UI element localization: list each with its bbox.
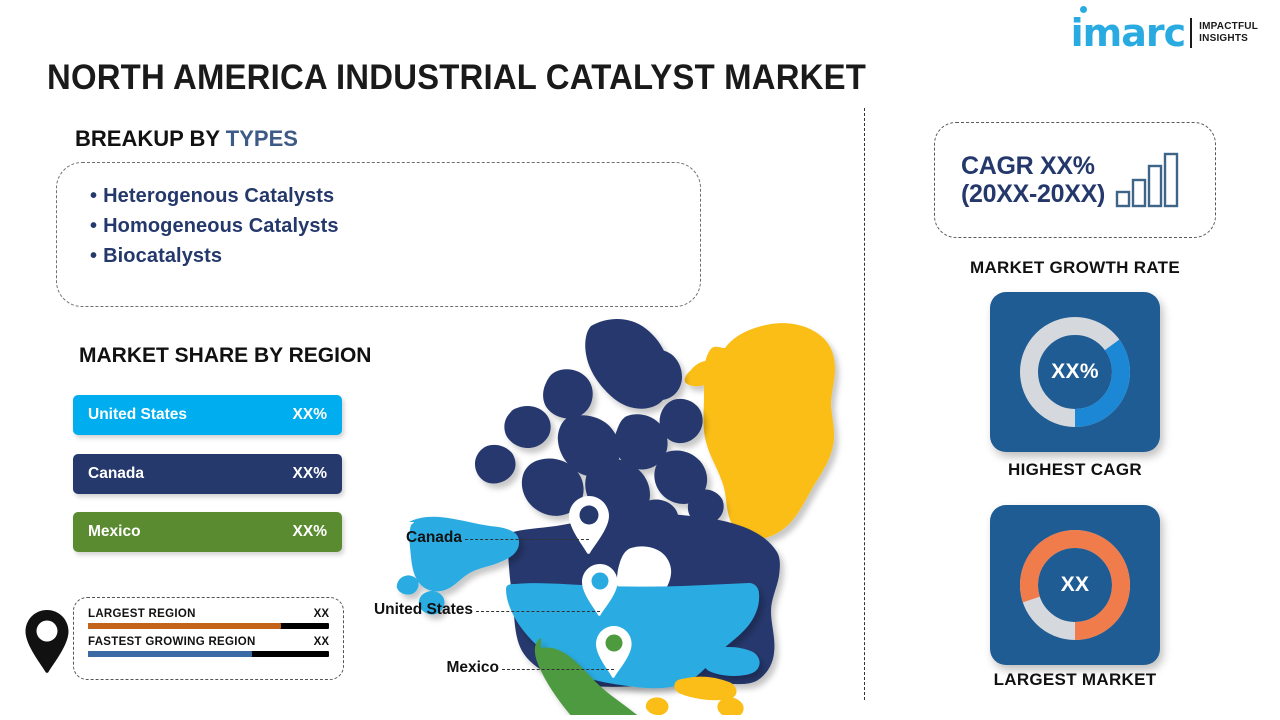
leader-line-united-states — [476, 611, 600, 612]
bullet-icon: • — [90, 245, 97, 267]
list-item: •Homogeneous Catalysts — [90, 211, 700, 241]
legend-progress-fill — [88, 651, 252, 657]
logo-divider — [1190, 18, 1192, 48]
north-america-map: Canada United States Mexico — [395, 300, 865, 715]
map-pin-icon — [22, 608, 72, 676]
share-bar-value: XX% — [293, 406, 327, 424]
share-bar-mexico: Mexico XX% — [73, 512, 342, 552]
cagr-line-1: CAGR XX% — [961, 152, 1105, 180]
share-bar-label: United States — [88, 406, 187, 424]
map-svg — [395, 300, 865, 715]
list-item-label: Biocatalysts — [103, 245, 222, 267]
share-bar-united-states: United States XX% — [73, 395, 342, 435]
bullet-icon: • — [90, 185, 97, 207]
highest-cagr-caption: HIGHEST CAGR — [934, 460, 1216, 480]
cagr-text: CAGR XX% (20XX-20XX) — [961, 152, 1105, 208]
legend-progress-fill — [88, 623, 281, 629]
list-item: •Biocatalysts — [90, 241, 700, 271]
list-item-label: Homogeneous Catalysts — [103, 215, 339, 237]
list-item-label: Heterogenous Catalysts — [103, 185, 334, 207]
logo-wordmark: imarc — [1071, 14, 1186, 52]
legend-progress-track — [88, 623, 329, 629]
bar-chart-icon — [1115, 152, 1179, 208]
market-share-heading: MARKET SHARE BY REGION — [79, 344, 371, 368]
region-legend-box: LARGEST REGION XX FASTEST GROWING REGION… — [73, 597, 344, 680]
legend-value: XX — [314, 608, 329, 620]
share-bar-label: Canada — [88, 465, 144, 483]
legend-value: XX — [314, 636, 329, 648]
logo-tagline-line2: INSIGHTS — [1199, 33, 1258, 46]
cagr-box: CAGR XX% (20XX-20XX) — [934, 122, 1216, 238]
breakup-types-box: •Heterogenous Catalysts •Homogeneous Cat… — [56, 162, 701, 307]
legend-progress-track — [88, 651, 329, 657]
page-title: NORTH AMERICA INDUSTRIAL CATALYST MARKET — [47, 58, 866, 98]
map-label-canada: Canada — [406, 529, 462, 547]
share-bar-value: XX% — [293, 523, 327, 541]
breakup-heading-accent: TYPES — [226, 126, 298, 151]
list-item: •Heterogenous Catalysts — [90, 181, 700, 211]
logo-tagline-line1: IMPACTFUL — [1199, 21, 1258, 34]
breakup-heading-prefix: BREAKUP BY — [75, 126, 226, 151]
donut-center-value: XX% — [1051, 360, 1099, 384]
share-bar-value: XX% — [293, 465, 327, 483]
leader-line-canada — [465, 539, 589, 540]
largest-market-card: XX — [990, 505, 1160, 665]
leader-line-mexico — [502, 669, 614, 670]
bullet-icon: • — [90, 215, 97, 237]
legend-row-largest-region: LARGEST REGION XX — [88, 608, 329, 629]
legend-label: LARGEST REGION — [88, 608, 196, 620]
cagr-line-2: (20XX-20XX) — [961, 180, 1105, 208]
highest-cagr-card: XX% — [990, 292, 1160, 452]
legend-row-fastest-growing-region: FASTEST GROWING REGION XX — [88, 636, 329, 657]
logo-tagline: IMPACTFUL INSIGHTS — [1199, 21, 1258, 46]
largest-market-caption: LARGEST MARKET — [934, 670, 1216, 690]
legend-label: FASTEST GROWING REGION — [88, 636, 256, 648]
logo-dot-icon — [1080, 6, 1087, 13]
breakup-heading: BREAKUP BY TYPES — [75, 126, 298, 152]
share-bar-label: Mexico — [88, 523, 141, 541]
donut-center-value: XX — [1061, 573, 1090, 597]
infographic-page: imarc IMPACTFUL INSIGHTS NORTH AMERICA I… — [0, 0, 1280, 720]
map-label-mexico: Mexico — [446, 659, 499, 677]
share-bar-canada: Canada XX% — [73, 454, 342, 494]
market-growth-rate-caption: MARKET GROWTH RATE — [934, 258, 1216, 278]
imarc-logo: imarc IMPACTFUL INSIGHTS — [1071, 14, 1258, 52]
map-label-united-states: United States — [374, 601, 473, 619]
vertical-divider — [864, 108, 865, 700]
